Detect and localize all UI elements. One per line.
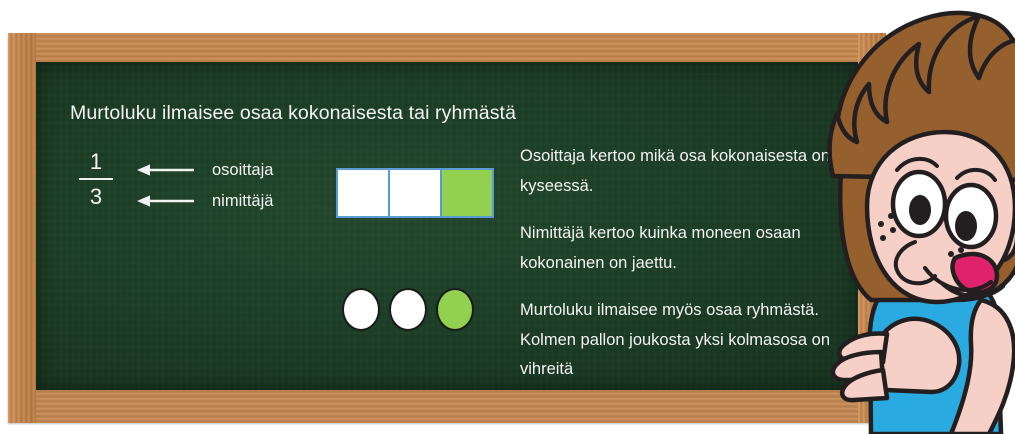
boy-face bbox=[867, 132, 1015, 302]
boy-right-pupil bbox=[955, 211, 977, 241]
denominator-label: nimittäjä bbox=[212, 192, 273, 211]
circle-3 bbox=[436, 288, 474, 331]
fraction-circle-model bbox=[342, 288, 474, 331]
explanation-column: Osoittaja kertoo mikä osa kokonaisesta o… bbox=[520, 142, 840, 385]
board-title: Murtoluku ilmaisee osaa kokonaisesta tai… bbox=[70, 102, 516, 125]
boy-shirt bbox=[870, 267, 1001, 434]
boy-right-eye bbox=[946, 185, 996, 247]
explanation-paragraph: Osoittaja kertoo mikä osa kokonaisesta o… bbox=[520, 142, 840, 201]
boy-tongue bbox=[953, 254, 997, 292]
fraction-denominator: 3 bbox=[72, 182, 120, 212]
boy-right-arm bbox=[951, 300, 1014, 434]
fraction-bar bbox=[79, 178, 113, 180]
left-arrow-icon bbox=[136, 163, 196, 177]
frame-rail-right bbox=[858, 33, 886, 423]
explanation-paragraph: Nimittäjä kertoo kuinka moneen osaan kok… bbox=[520, 219, 840, 278]
circle-2 bbox=[389, 288, 427, 331]
fraction-one-third: 1 3 bbox=[72, 147, 120, 212]
bar-cell-1 bbox=[338, 170, 388, 216]
boy-right-eyebrow bbox=[957, 170, 995, 180]
boy-freckles bbox=[878, 213, 964, 257]
fraction-numerator: 1 bbox=[72, 147, 120, 177]
boy-ear bbox=[989, 217, 1015, 261]
left-arrow-icon bbox=[136, 194, 196, 208]
numerator-label: osoittaja bbox=[212, 161, 273, 180]
slide-screenshot: Murtoluku ilmaisee osaa kokonaisesta tai… bbox=[0, 0, 1015, 434]
blackboard-frame: Murtoluku ilmaisee osaa kokonaisesta tai… bbox=[8, 33, 886, 423]
boy-ear-detail bbox=[999, 230, 1008, 250]
boy-nose bbox=[896, 242, 935, 283]
numerator-callout: osoittaja bbox=[136, 161, 273, 179]
boy-left-eye bbox=[893, 172, 945, 236]
chalkboard-surface: Murtoluku ilmaisee osaa kokonaisesta tai… bbox=[36, 62, 858, 390]
denominator-callout: nimittäjä bbox=[136, 192, 273, 210]
bar-cell-2 bbox=[390, 170, 440, 216]
fraction-bar-model bbox=[336, 168, 494, 218]
boy-mouth bbox=[943, 284, 1003, 296]
explanation-paragraph: Murtoluku ilmaisee myös osaa ryhmästä. K… bbox=[520, 296, 840, 385]
boy-left-pupil bbox=[909, 195, 931, 225]
bar-cell-3 bbox=[442, 170, 492, 216]
circle-1 bbox=[342, 288, 380, 331]
boy-collar bbox=[925, 268, 991, 290]
frame-rail-left bbox=[8, 33, 36, 423]
boy-left-eyebrow bbox=[897, 159, 937, 170]
